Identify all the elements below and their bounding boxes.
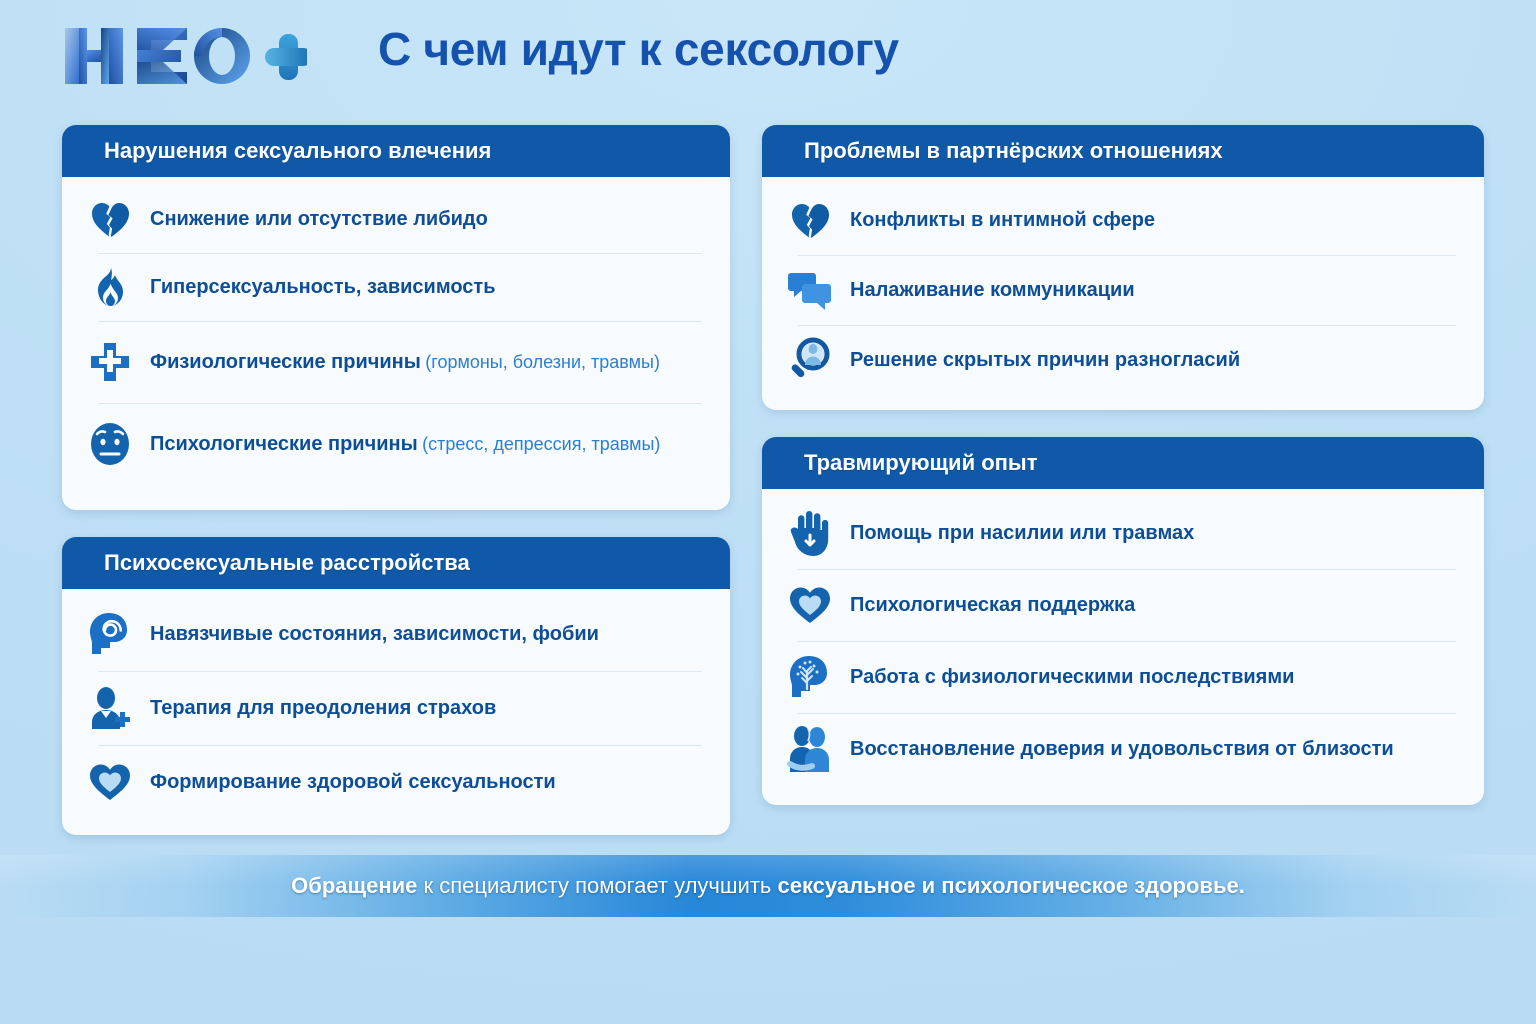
list-item-text: Терапия для преодоления страхов [150,696,496,720]
list-item-title: Физиологические причины [150,351,421,373]
head-spiral-icon [84,608,136,660]
sad-face-icon [84,418,136,470]
list-item-text: Налаживание коммуникации [850,278,1135,302]
list-item[interactable]: Навязчивые состояния, зависимости, фобии [84,597,708,671]
list-item-title: Психологические причины [150,433,418,455]
person-plus-icon [84,682,136,734]
list-item-text: Формирование здоровой сексуальности [150,770,556,794]
speech-bubbles-icon [784,264,836,316]
card-trauma-body: Помощь при насилии или травмах Психологи… [762,489,1484,799]
list-item-title: Конфликты в интимной сфере [850,209,1155,231]
broken-heart-icon [84,193,136,245]
footer-banner: Обращение к специалисту помогает улучшит… [0,855,1536,917]
footer-emphasis: сексуальное и психологическое здоровье. [777,873,1244,898]
list-item-text: Восстановление доверия и удовольствия от… [850,737,1394,761]
brand-logo [57,20,307,92]
list-item-title: Терапия для преодоления страхов [150,697,496,719]
list-item-title: Психологическая поддержка [850,594,1135,616]
list-item-title: Работа с физиологическими последствиями [850,666,1294,688]
footer-text: Обращение к специалисту помогает улучшит… [291,873,1245,899]
list-item-title: Помощь при насилии или травмах [850,522,1194,544]
list-item-text: Гиперсексуальность, зависимость [150,275,496,299]
list-item-title: Восстановление доверия и удовольствия от… [850,738,1394,760]
broken-heart-icon [784,194,836,246]
list-item[interactable]: Конфликты в интимной сфере [784,185,1462,255]
list-item-title: Решение скрытых причин разногласий [850,349,1240,371]
list-item[interactable]: Формирование здоровой сексуальности [84,745,708,819]
list-item[interactable]: Восстановление доверия и удовольствия от… [784,713,1462,785]
stop-hand-icon [784,507,836,559]
page-title: С чем идут к сексологу [378,22,899,76]
list-item-text: Решение скрытых причин разногласий [850,348,1240,372]
infographic-root: С чем идут к сексологу Нарушения сексуал… [0,0,1536,1024]
list-item-title: Формирование здоровой сексуальности [150,771,556,793]
list-item-subtitle: (стресс, депрессия, травмы) [422,434,660,454]
list-item-text: Снижение или отсутствие либидо [150,207,488,231]
heart-in-heart-icon [784,579,836,631]
list-item-text: Психологическая поддержка [850,593,1135,617]
magnifier-person-icon [784,334,836,386]
card-trauma-header: Травмирующий опыт [762,437,1484,489]
list-item-title: Гиперсексуальность, зависимость [150,276,496,298]
list-item-text: Работа с физиологическими последствиями [850,665,1294,689]
card-desire-header: Нарушения сексуального влечения [62,125,730,177]
list-item[interactable]: Помощь при насилии или травмах [784,497,1462,569]
list-item[interactable]: Работа с физиологическими последствиями [784,641,1462,713]
card-psychosex-title: Психосексуальные расстройства [104,550,470,576]
list-item-text: Конфликты в интимной сфере [850,208,1155,232]
card-desire-body: Снижение или отсутствие либидо Гиперсекс… [62,177,730,499]
card-partner: Проблемы в партнёрских отношениях Конфли… [762,125,1484,410]
card-partner-body: Конфликты в интимной сфере Налаживание к… [762,177,1484,409]
card-trauma-title: Травмирующий опыт [804,450,1038,476]
list-item-title: Навязчивые состояния, зависимости, фобии [150,623,599,645]
card-psychosex: Психосексуальные расстройства Навязчивые… [62,537,730,835]
list-item[interactable]: Психологическая поддержка [784,569,1462,641]
list-item[interactable]: Налаживание коммуникации [784,255,1462,325]
flame-icon [84,261,136,313]
list-item-text: Физиологические причины (гормоны, болезн… [150,350,660,374]
head-tree-icon [784,651,836,703]
couple-hug-icon [784,723,836,775]
card-psychosex-header: Психосексуальные расстройства [62,537,730,589]
list-item[interactable]: Гиперсексуальность, зависимость [84,253,708,321]
list-item[interactable]: Решение скрытых причин разногласий [784,325,1462,395]
card-desire-title: Нарушения сексуального влечения [104,138,491,164]
medical-cross-icon [84,336,136,388]
footer-lead: Обращение [291,873,417,898]
card-psychosex-body: Навязчивые состояния, зависимости, фобии… [62,589,730,833]
list-item-text: Помощь при насилии или травмах [850,521,1194,545]
list-item[interactable]: Психологические причины (стресс, депресс… [84,403,708,485]
list-item[interactable]: Физиологические причины (гормоны, болезн… [84,321,708,403]
heart-in-heart-icon [84,756,136,808]
footer-middle: к специалисту помогает улучшить [417,873,777,898]
card-partner-title: Проблемы в партнёрских отношениях [804,138,1223,164]
card-partner-header: Проблемы в партнёрских отношениях [762,125,1484,177]
list-item[interactable]: Терапия для преодоления страхов [84,671,708,745]
list-item-subtitle: (гормоны, болезни, травмы) [425,352,660,372]
list-item[interactable]: Снижение или отсутствие либидо [84,185,708,253]
card-desire: Нарушения сексуального влечения Снижение… [62,125,730,510]
list-item-text: Навязчивые состояния, зависимости, фобии [150,622,599,646]
list-item-title: Снижение или отсутствие либидо [150,208,488,230]
card-trauma: Травмирующий опыт Помощь при насилии или… [762,437,1484,805]
list-item-text: Психологические причины (стресс, депресс… [150,432,660,456]
list-item-title: Налаживание коммуникации [850,279,1135,301]
